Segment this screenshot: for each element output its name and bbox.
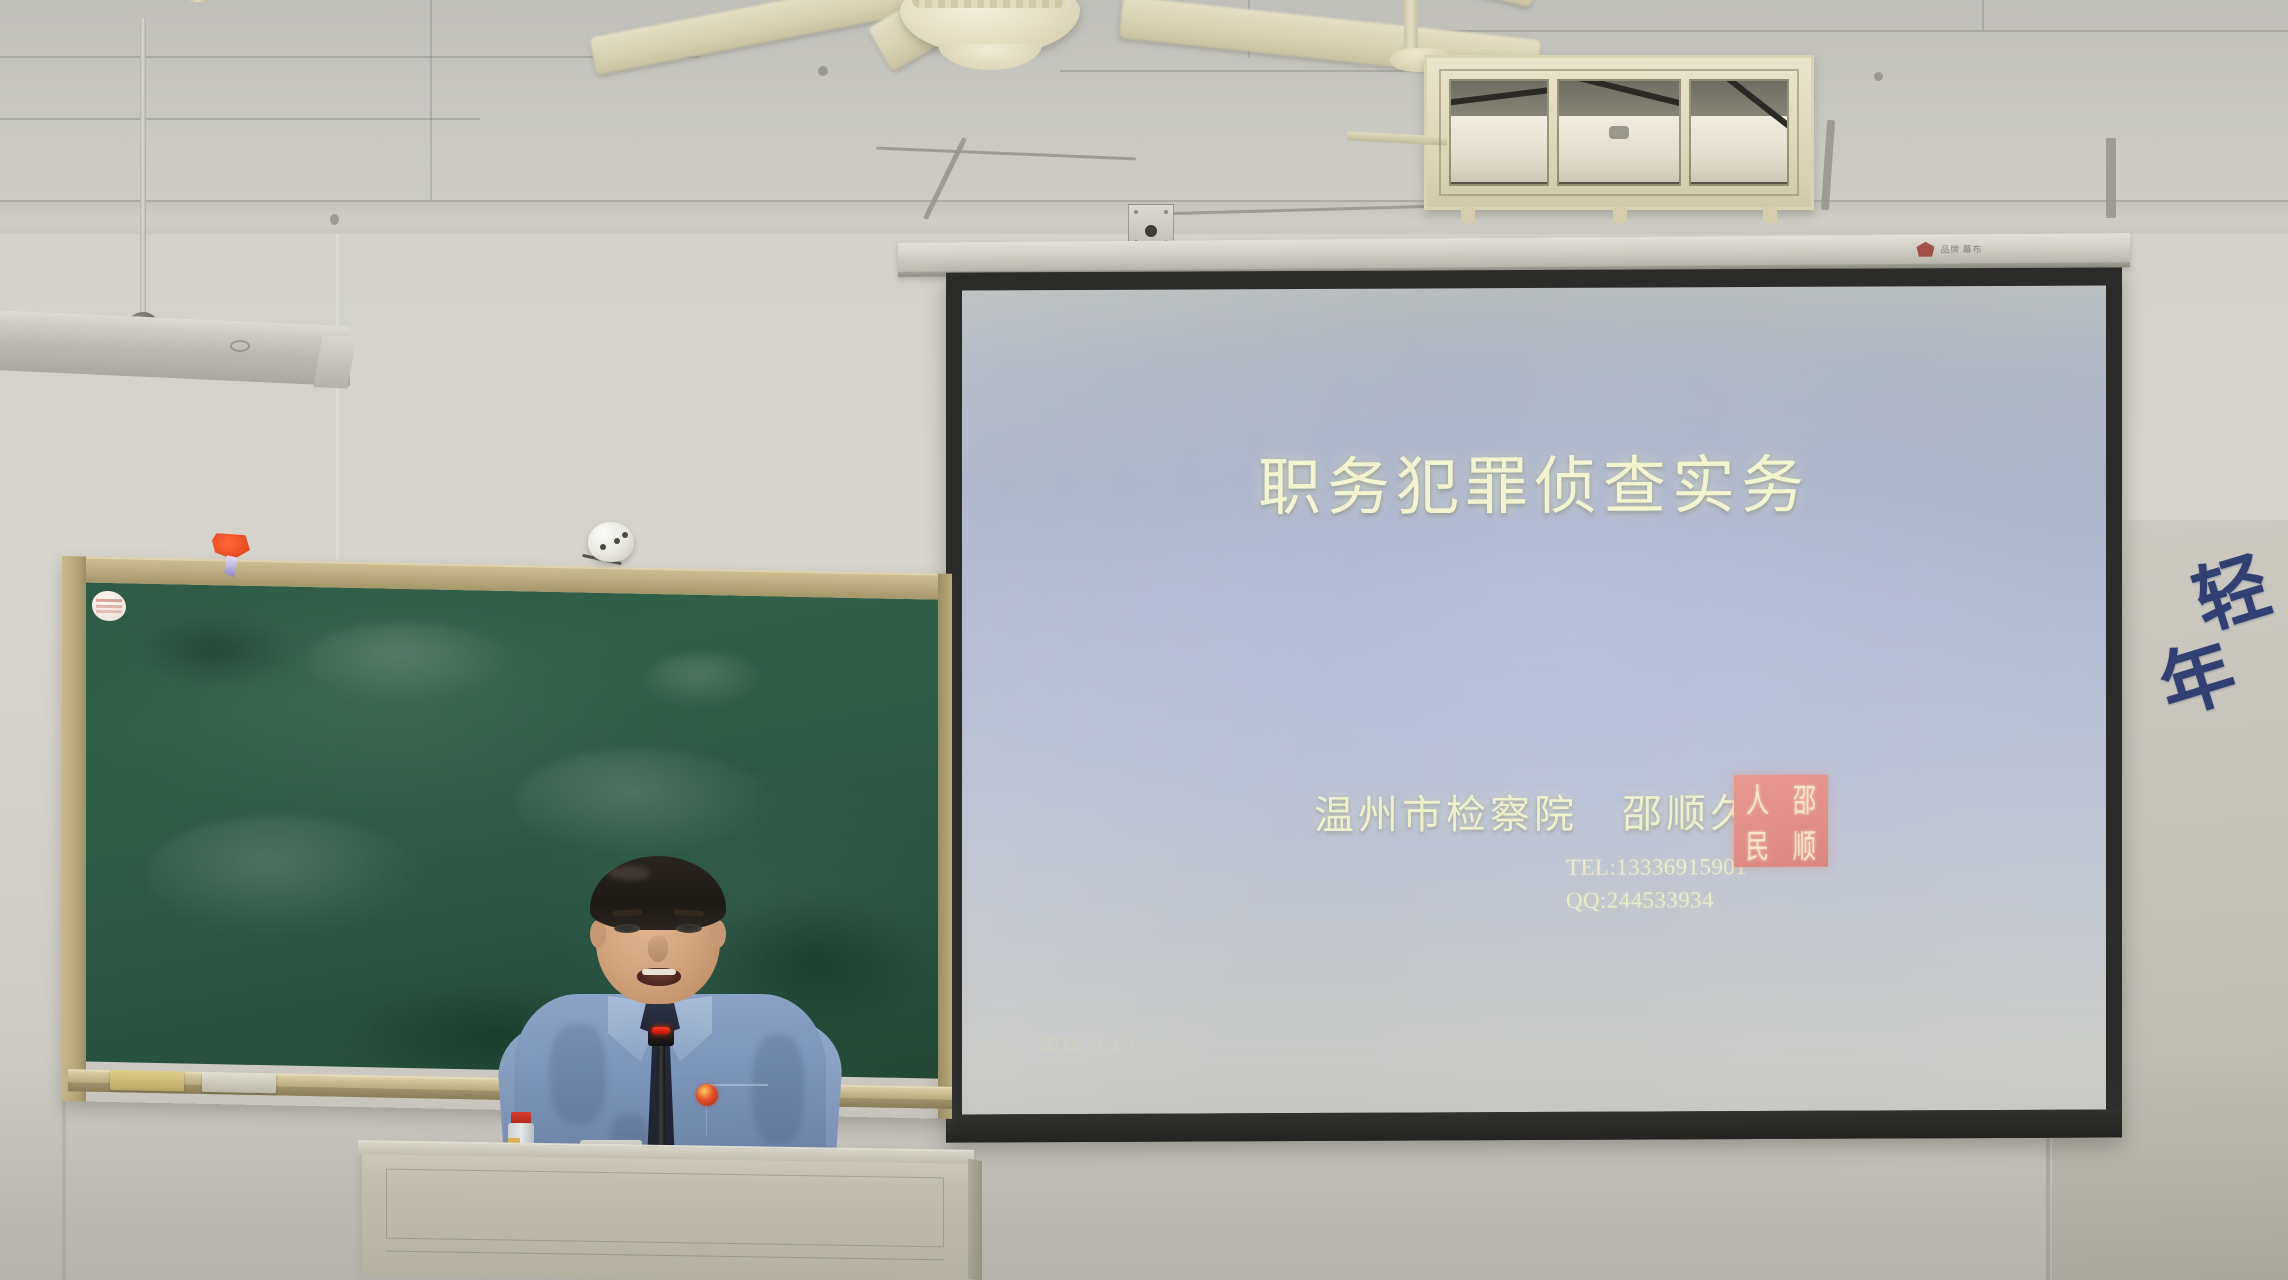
chalk-smudge: [146, 814, 426, 940]
slide-date-stamp: 2016.5.15: [1036, 1034, 1135, 1056]
cage-pane: [1557, 79, 1681, 186]
fluorescent-light-fixture: [0, 318, 350, 388]
outlet-screw: [1164, 210, 1168, 214]
light-suspension-rod: [140, 18, 146, 318]
floor-shadow-gradient: [0, 1060, 2288, 1280]
ceiling-fastener: [1874, 72, 1883, 81]
fan-blade: [1239, 0, 1541, 8]
cage-foot: [1763, 207, 1777, 223]
microphone-power-led: [652, 1027, 670, 1034]
mouth: [637, 968, 681, 986]
chalkboard-sticker: [92, 591, 126, 622]
projector-cage: [1424, 55, 1814, 210]
eye: [676, 924, 702, 933]
red-ribbon-decoration: [212, 533, 250, 578]
slide-byline-block: 温州市检察院 邵顺久 TEL:13336915901 QQ:244533934 …: [1314, 781, 1754, 918]
hair: [590, 856, 726, 930]
outlet-socket-hole: [1145, 225, 1157, 237]
slide-contact-block: TEL:13336915901 QQ:244533934: [1566, 851, 1754, 917]
projection-screen[interactable]: 职务犯罪侦查实务 温州市检察院 邵顺久 TEL:13336915901 QQ:2…: [946, 267, 2122, 1142]
eye: [614, 924, 640, 933]
chalk-smudge: [516, 747, 776, 862]
cage-pane: [1689, 79, 1789, 186]
slide-qq: QQ:244533934: [1566, 884, 1754, 917]
sensor-led: [614, 538, 620, 544]
projector-body: [1449, 116, 1549, 182]
slide-byline: 温州市检察院 邵顺久: [1314, 781, 1754, 841]
ear: [710, 920, 726, 948]
sensor-led: [622, 532, 628, 538]
ceiling-fastener: [818, 66, 828, 76]
projector-lens: [1609, 126, 1628, 138]
seal-glyph: 民: [1736, 814, 1778, 873]
cage-strut: [1449, 86, 1549, 106]
outlet-screw: [1134, 210, 1138, 214]
ceiling-panel-line: [430, 0, 432, 200]
fan-housing-ring: [912, 0, 1066, 8]
slide-byline-row: 温州市检察院 邵顺久 TEL:13336915901 QQ:244533934 …: [962, 780, 2106, 920]
ceiling-panel-line: [0, 118, 480, 120]
cage-pane: [1449, 79, 1549, 186]
brand-text: 品牌 幕布: [1940, 242, 1982, 255]
ceiling-fan: [700, 0, 1600, 60]
chalkboard-frame-left: [62, 556, 86, 1101]
projector-body: [1689, 116, 1789, 182]
ceiling-fastener: [330, 214, 339, 225]
classroom-scene: 品牌 幕布 职务犯罪侦查实务 温州市检察院 邵顺久 TEL:1333691590…: [0, 0, 2288, 1280]
teeth: [642, 969, 676, 975]
chalkboard-stain: [134, 614, 294, 687]
brand-logo-icon: [1916, 242, 1934, 257]
microphone[interactable]: [648, 1024, 674, 1046]
presentation-slide: 职务犯罪侦查实务 温州市检察院 邵顺久 TEL:13336915901 QQ:2…: [962, 286, 2106, 1115]
cage-foot: [1461, 207, 1475, 223]
projector-cage-grille: [1439, 69, 1799, 196]
cage-foot: [1613, 207, 1627, 223]
slide-tel: TEL:13336915901: [1566, 851, 1754, 884]
red-seal-stamp: 人 邵 民 顺: [1734, 775, 1828, 867]
sensor-led: [600, 544, 606, 550]
dome-sensor: [588, 522, 634, 562]
chalkboard-frame-right: [938, 574, 952, 1119]
seal-glyph: 顺: [1783, 814, 1825, 873]
nose: [648, 936, 668, 962]
ceiling-panel-line: [1982, 0, 1984, 30]
chalk-smudge: [646, 652, 766, 710]
chalk-smudge: [306, 621, 516, 705]
slide-title: 职务犯罪侦查实务: [962, 434, 2106, 530]
projection-screen-surface[interactable]: 职务犯罪侦查实务 温州市检察院 邵顺久 TEL:13336915901 QQ:2…: [962, 286, 2106, 1115]
ceiling-panel-line: [1060, 70, 1460, 72]
ceiling-cable: [2106, 138, 2116, 218]
ribbon-tail: [224, 555, 238, 577]
ribbon-flower-icon: [212, 533, 250, 560]
projector-cage-mount: [190, 0, 206, 2]
fixture-knockout-hole: [230, 340, 250, 352]
roller-brand-label: 品牌 幕布: [1916, 241, 1982, 257]
fan-downrod: [1404, 0, 1418, 48]
cage-strut: [1557, 79, 1681, 112]
